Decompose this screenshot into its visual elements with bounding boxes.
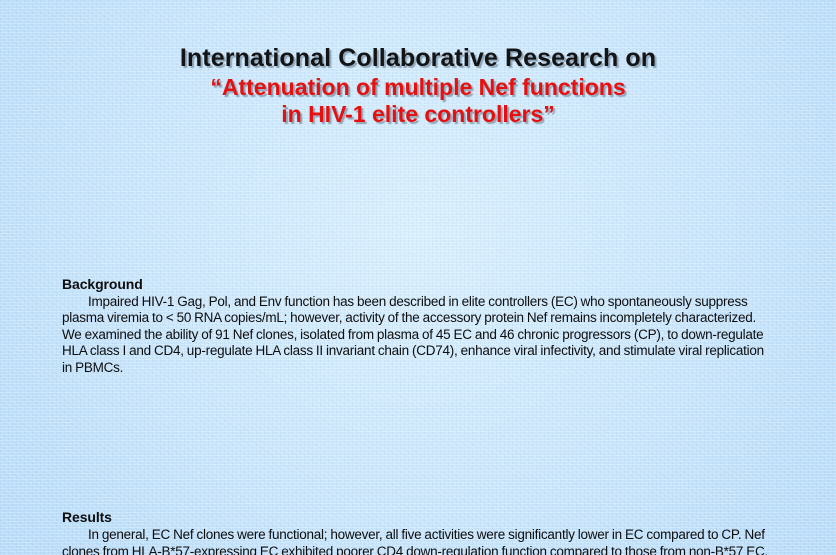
results-body-text: In general, EC Nef clones were functiona…: [62, 527, 768, 555]
background-heading: Background: [62, 276, 774, 292]
background-body: Impaired HIV-1 Gag, Pol, and Env functio…: [62, 294, 774, 377]
results-body: In general, EC Nef clones were functiona…: [62, 527, 774, 555]
results-section: Results In general, EC Nef clones were f…: [62, 509, 774, 555]
title-block: International Collaborative Research on …: [0, 0, 836, 128]
page-subtitle-line1: “Attenuation of multiple Nef functions: [0, 74, 836, 101]
slide-canvas: International Collaborative Research on …: [0, 0, 836, 555]
background-body-text: Impaired HIV-1 Gag, Pol, and Env functio…: [62, 294, 764, 375]
page-title: International Collaborative Research on: [0, 44, 836, 73]
page-subtitle-line2: in HIV-1 elite controllers”: [0, 101, 836, 128]
background-section: Background Impaired HIV-1 Gag, Pol, and …: [62, 276, 774, 377]
results-heading: Results: [62, 509, 774, 525]
